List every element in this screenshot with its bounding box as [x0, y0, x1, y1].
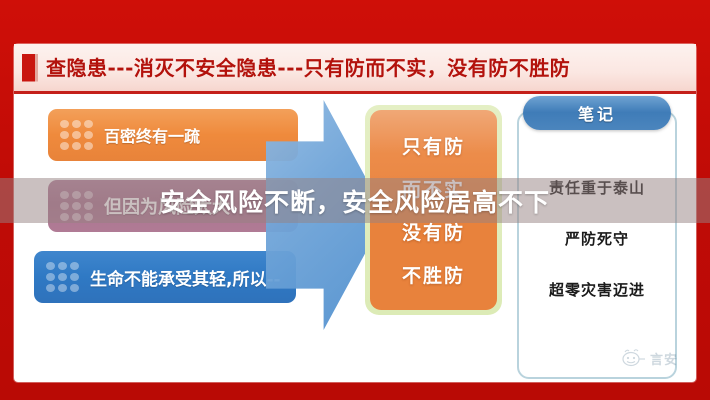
slide-canvas: 查隐患---消灭不安全隐患---只有防而不实，没有防不胜防 百密终有一疏 但因为…	[0, 0, 710, 400]
slide-heading-bar: 查隐患---消灭不安全隐患---只有防而不实，没有防不胜防	[14, 44, 696, 94]
note-line-2: 严防死守	[565, 228, 629, 249]
dot-grid-icon	[46, 262, 84, 292]
slide-body: 百密终有一疏 但因为风险太大 生命不能承受其轻,所以--	[14, 97, 696, 382]
centre-line-4: 不胜防	[402, 261, 465, 288]
centre-line-1: 只有防	[402, 132, 465, 159]
note-line-3: 超零灾害迈进	[549, 279, 645, 300]
overlay-caption-band: 安全风险不断，安全风险居高不下	[0, 178, 710, 223]
dot-grid-icon	[60, 120, 98, 150]
notes-panel-header: 笔记	[523, 96, 671, 130]
notes-panel-body: 责任重于泰山 严防死守 超零灾害迈进	[519, 155, 675, 300]
statement-box-3[interactable]: 生命不能承受其轻,所以--	[34, 251, 296, 303]
overlay-caption-text: 安全风险不断，安全风险居高不下	[160, 183, 550, 219]
notes-panel: 笔记 责任重于泰山 严防死守 超零灾害迈进	[517, 111, 677, 379]
statement-box-1-label: 百密终有一疏	[104, 123, 200, 147]
statement-box-3-label: 生命不能承受其轻,所以--	[90, 265, 281, 290]
slide-heading-text: 查隐患---消灭不安全隐患---只有防而不实，没有防不胜防	[46, 58, 570, 78]
notes-panel-header-label: 笔记	[578, 101, 616, 125]
red-flag-marker-icon	[22, 54, 38, 82]
statement-box-1[interactable]: 百密终有一疏	[48, 109, 298, 161]
